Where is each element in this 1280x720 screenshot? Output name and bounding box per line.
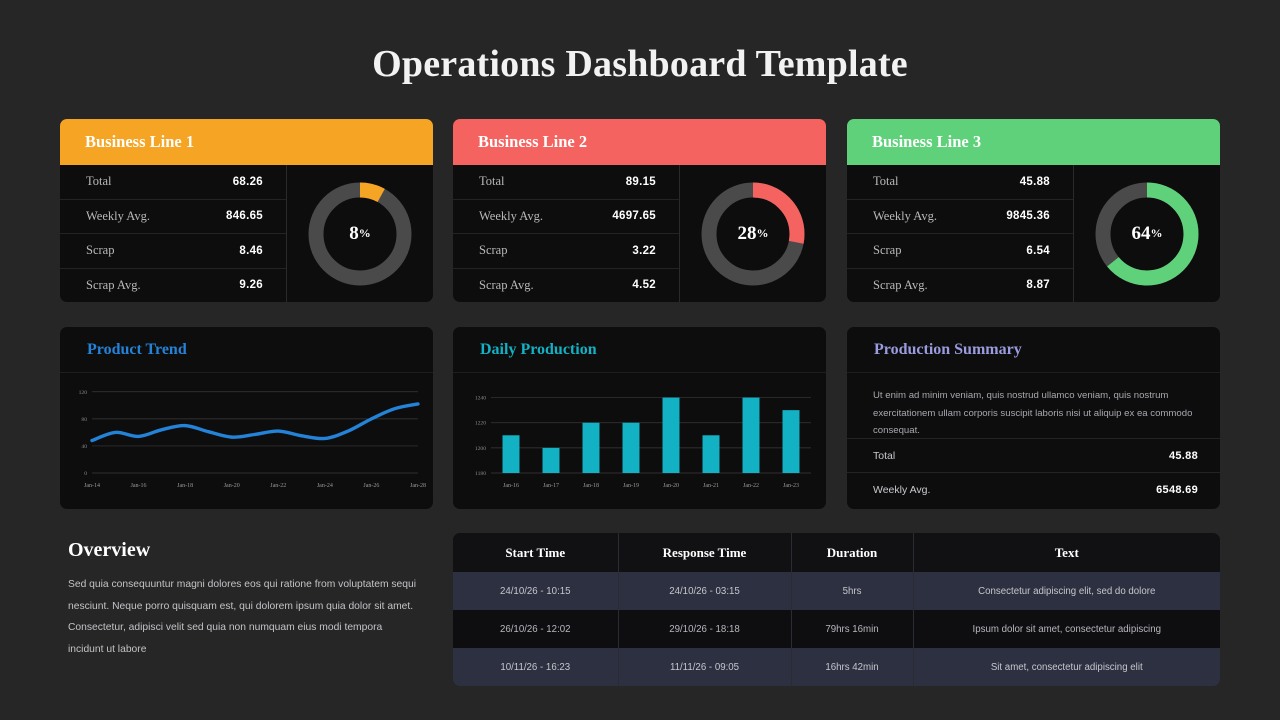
kpi-donut-container: 8% bbox=[287, 165, 433, 302]
kpi-card-title: Business Line 1 bbox=[85, 132, 194, 152]
donut-center-label: 28% bbox=[697, 178, 809, 290]
panel-title: Product Trend bbox=[87, 341, 187, 359]
kpi-metric-label: Weekly Avg. bbox=[873, 209, 937, 224]
kpi-metric-value: 8.87 bbox=[1026, 279, 1050, 291]
svg-text:Jan-18: Jan-18 bbox=[583, 483, 599, 489]
panel-title: Production Summary bbox=[874, 341, 1022, 359]
kpi-metric-label: Total bbox=[479, 174, 505, 189]
kpi-metric-label: Scrap Avg. bbox=[873, 278, 928, 293]
donut-unit: % bbox=[359, 226, 371, 241]
kpi-metric-label: Scrap bbox=[873, 243, 901, 258]
summary-description: Ut enim ad minim veniam, quis nostrud ul… bbox=[847, 373, 1220, 439]
kpi-metric-row: Weekly Avg. 846.65 bbox=[60, 200, 286, 235]
svg-text:1220: 1220 bbox=[475, 421, 486, 427]
table-cell-duration: 79hrs 16min bbox=[791, 610, 913, 648]
dashboard-page: Operations Dashboard Template Business L… bbox=[0, 0, 1280, 720]
kpi-card-title: Business Line 3 bbox=[872, 132, 981, 152]
page-title: Operations Dashboard Template bbox=[0, 42, 1280, 86]
svg-text:Jan-26: Jan-26 bbox=[363, 483, 379, 489]
panel-body: Ut enim ad minim veniam, quis nostrud ul… bbox=[847, 373, 1220, 509]
table-cell-duration: 5hrs bbox=[791, 572, 913, 610]
kpi-metric-value: 89.15 bbox=[626, 176, 656, 188]
kpi-metric-label: Total bbox=[86, 174, 112, 189]
panel-header: Product Trend bbox=[60, 327, 433, 373]
kpi-metric-row: Scrap 6.54 bbox=[847, 234, 1073, 269]
svg-text:Jan-14: Jan-14 bbox=[84, 483, 100, 489]
svg-text:1180: 1180 bbox=[475, 471, 486, 477]
kpi-metric-row: Total 89.15 bbox=[453, 165, 679, 200]
summary-metric-row: Total 45.88 bbox=[847, 439, 1220, 473]
kpi-metric-list: Total 68.26 Weekly Avg. 846.65 Scrap 8.4… bbox=[60, 165, 287, 302]
donut-center-label: 64% bbox=[1091, 178, 1203, 290]
donut-unit: % bbox=[1151, 226, 1163, 241]
kpi-card-body: Total 68.26 Weekly Avg. 846.65 Scrap 8.4… bbox=[60, 165, 433, 302]
table-cell-start-time: 10/11/26 - 16:23 bbox=[453, 648, 618, 686]
table-column-header[interactable]: Response Time bbox=[618, 533, 791, 572]
kpi-metric-value: 9845.36 bbox=[1006, 210, 1050, 222]
kpi-metric-value: 9.26 bbox=[239, 279, 263, 291]
svg-text:1200: 1200 bbox=[475, 446, 486, 452]
overview-paragraph-1: Sed quia consequuntur magni dolores eos … bbox=[68, 574, 420, 617]
svg-text:Jan-28: Jan-28 bbox=[410, 483, 426, 489]
svg-text:0: 0 bbox=[84, 471, 87, 477]
panel-body: 1180120012201240Jan-16Jan-17Jan-18Jan-19… bbox=[453, 373, 826, 509]
kpi-metric-row: Total 68.26 bbox=[60, 165, 286, 200]
table-cell-response-time: 29/10/26 - 18:18 bbox=[618, 610, 791, 648]
svg-text:Jan-17: Jan-17 bbox=[543, 483, 559, 489]
overview-title: Overview bbox=[68, 539, 420, 562]
kpi-metric-row: Scrap Avg. 8.87 bbox=[847, 269, 1073, 303]
kpi-card-header: Business Line 2 bbox=[453, 119, 826, 165]
panel-header: Production Summary bbox=[847, 327, 1220, 373]
donut-value: 8 bbox=[349, 223, 359, 245]
svg-text:Jan-21: Jan-21 bbox=[703, 483, 719, 489]
table-column-header[interactable]: Duration bbox=[791, 533, 913, 572]
table-cell-response-time: 24/10/26 - 03:15 bbox=[618, 572, 791, 610]
kpi-metric-label: Total bbox=[873, 174, 899, 189]
kpi-metric-label: Scrap Avg. bbox=[86, 278, 141, 293]
table-cell-response-time: 11/11/26 - 09:05 bbox=[618, 648, 791, 686]
kpi-card-title: Business Line 2 bbox=[478, 132, 587, 152]
kpi-metric-row: Weekly Avg. 9845.36 bbox=[847, 200, 1073, 235]
table-row[interactable]: 24/10/26 - 10:15 24/10/26 - 03:15 5hrs C… bbox=[453, 572, 1220, 610]
kpi-metric-label: Scrap Avg. bbox=[479, 278, 534, 293]
panel-production-summary[interactable]: Production Summary Ut enim ad minim veni… bbox=[847, 327, 1220, 509]
donut-unit: % bbox=[757, 226, 769, 241]
svg-text:Jan-16: Jan-16 bbox=[503, 483, 519, 489]
kpi-metric-label: Scrap bbox=[86, 243, 114, 258]
svg-text:Jan-22: Jan-22 bbox=[743, 483, 759, 489]
svg-text:Jan-16: Jan-16 bbox=[131, 483, 147, 489]
donut-center-label: 8% bbox=[304, 178, 416, 290]
table-cell-duration: 16hrs 42min bbox=[791, 648, 913, 686]
svg-text:Jan-22: Jan-22 bbox=[270, 483, 286, 489]
svg-text:Jan-18: Jan-18 bbox=[177, 483, 193, 489]
table-cell-text: Sit amet, consectetur adipiscing elit bbox=[913, 648, 1220, 686]
table-row[interactable]: 10/11/26 - 16:23 11/11/26 - 09:05 16hrs … bbox=[453, 648, 1220, 686]
svg-text:Jan-24: Jan-24 bbox=[317, 483, 333, 489]
kpi-metric-value: 6.54 bbox=[1026, 245, 1050, 257]
overview-paragraph-2: Consectetur, adipisci velit sed quia non… bbox=[68, 617, 420, 660]
kpi-card-header: Business Line 3 bbox=[847, 119, 1220, 165]
kpi-metric-label: Scrap bbox=[479, 243, 507, 258]
svg-text:Jan-23: Jan-23 bbox=[783, 483, 799, 489]
svg-text:Jan-19: Jan-19 bbox=[623, 483, 639, 489]
kpi-metric-value: 8.46 bbox=[239, 245, 263, 257]
kpi-card-body: Total 89.15 Weekly Avg. 4697.65 Scrap 3.… bbox=[453, 165, 826, 302]
svg-text:Jan-20: Jan-20 bbox=[224, 483, 240, 489]
donut-value: 64 bbox=[1132, 223, 1151, 245]
panel-title: Daily Production bbox=[480, 341, 597, 359]
panel-header: Daily Production bbox=[453, 327, 826, 373]
kpi-metric-list: Total 45.88 Weekly Avg. 9845.36 Scrap 6.… bbox=[847, 165, 1074, 302]
summary-metric-value: 6548.69 bbox=[1156, 484, 1198, 496]
kpi-metric-label: Weekly Avg. bbox=[479, 209, 543, 224]
kpi-metric-row: Total 45.88 bbox=[847, 165, 1073, 200]
svg-text:40: 40 bbox=[81, 444, 87, 450]
summary-metric-label: Total bbox=[873, 450, 895, 462]
kpi-metric-value: 3.22 bbox=[632, 245, 656, 257]
kpi-metric-row: Scrap Avg. 4.52 bbox=[453, 269, 679, 303]
summary-metric-row: Weekly Avg. 6548.69 bbox=[847, 473, 1220, 507]
kpi-metric-row: Weekly Avg. 4697.65 bbox=[453, 200, 679, 235]
kpi-card-business-line-1[interactable]: Business Line 1 Total 68.26 Weekly Avg. … bbox=[60, 119, 433, 302]
table-cell-start-time: 24/10/26 - 10:15 bbox=[453, 572, 618, 610]
kpi-metric-value: 846.65 bbox=[226, 210, 263, 222]
kpi-metric-value: 4.52 bbox=[632, 279, 656, 291]
kpi-metric-row: Scrap 8.46 bbox=[60, 234, 286, 269]
kpi-card-business-line-2[interactable]: Business Line 2 Total 89.15 Weekly Avg. … bbox=[453, 119, 826, 302]
kpi-donut-container: 64% bbox=[1074, 165, 1220, 302]
kpi-metric-list: Total 89.15 Weekly Avg. 4697.65 Scrap 3.… bbox=[453, 165, 680, 302]
bar-chart-daily-production: 1180120012201240Jan-16Jan-17Jan-18Jan-19… bbox=[453, 373, 826, 509]
table-cell-start-time: 26/10/26 - 12:02 bbox=[453, 610, 618, 648]
table-column-header[interactable]: Start Time bbox=[453, 533, 618, 572]
svg-text:1240: 1240 bbox=[475, 396, 486, 402]
summary-metric-value: 45.88 bbox=[1169, 450, 1198, 462]
line-chart-product-trend: 04080120Jan-14Jan-16Jan-18Jan-20Jan-22Ja… bbox=[60, 373, 433, 509]
overview-section: Overview Sed quia consequuntur magni dol… bbox=[68, 539, 420, 660]
table-header-row: Start Time Response Time Duration Text bbox=[453, 533, 1220, 572]
kpi-card-body: Total 45.88 Weekly Avg. 9845.36 Scrap 6.… bbox=[847, 165, 1220, 302]
panel-daily-production[interactable]: Daily Production 1180120012201240Jan-16J… bbox=[453, 327, 826, 509]
table-column-header[interactable]: Text bbox=[913, 533, 1220, 572]
kpi-card-header: Business Line 1 bbox=[60, 119, 433, 165]
svg-text:80: 80 bbox=[81, 417, 87, 423]
kpi-metric-row: Scrap 3.22 bbox=[453, 234, 679, 269]
kpi-metric-row: Scrap Avg. 9.26 bbox=[60, 269, 286, 303]
kpi-metric-value: 45.88 bbox=[1020, 176, 1050, 188]
donut-value: 28 bbox=[738, 223, 757, 245]
panel-product-trend[interactable]: Product Trend 04080120Jan-14Jan-16Jan-18… bbox=[60, 327, 433, 509]
svg-text:Jan-20: Jan-20 bbox=[663, 483, 679, 489]
table-cell-text: Consectetur adipiscing elit, sed do dolo… bbox=[913, 572, 1220, 610]
table-cell-text: Ipsum dolor sit amet, consectetur adipis… bbox=[913, 610, 1220, 648]
kpi-metric-label: Weekly Avg. bbox=[86, 209, 150, 224]
events-table[interactable]: Start Time Response Time Duration Text 2… bbox=[453, 533, 1220, 686]
table-row[interactable]: 26/10/26 - 12:02 29/10/26 - 18:18 79hrs … bbox=[453, 610, 1220, 648]
kpi-metric-value: 4697.65 bbox=[612, 210, 656, 222]
kpi-card-business-line-3[interactable]: Business Line 3 Total 45.88 Weekly Avg. … bbox=[847, 119, 1220, 302]
panel-body: 04080120Jan-14Jan-16Jan-18Jan-20Jan-22Ja… bbox=[60, 373, 433, 509]
svg-text:120: 120 bbox=[79, 390, 88, 396]
kpi-metric-value: 68.26 bbox=[233, 176, 263, 188]
summary-metric-label: Weekly Avg. bbox=[873, 484, 930, 496]
kpi-donut-container: 28% bbox=[680, 165, 826, 302]
